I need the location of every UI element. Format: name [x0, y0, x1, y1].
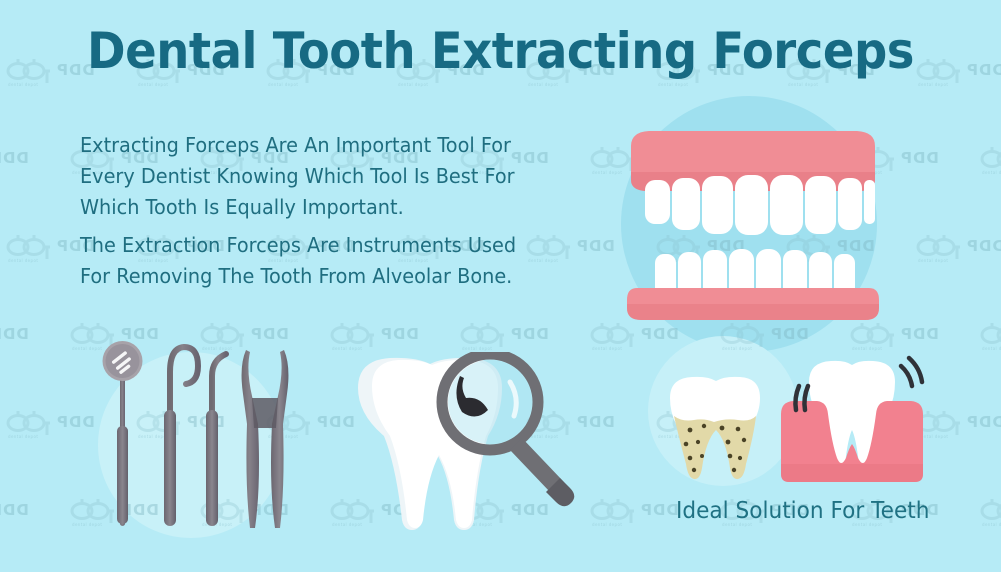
- dentures-illustration: [623, 128, 883, 329]
- decayed-tooth-illustration: [660, 372, 768, 489]
- body-line-5: For Removing The Tooth From Alveolar Bon…: [80, 261, 522, 292]
- watermark-tagline: dental depot: [982, 170, 1001, 175]
- watermark-tile: DDPdental depot: [980, 498, 1001, 532]
- watermark-tile: DDPdental depot: [200, 0, 312, 4]
- watermark-tagline: dental depot: [982, 522, 1001, 527]
- watermark-tile: DDPdental depot: [590, 0, 702, 4]
- watermark-wordmark: DDP: [380, 325, 419, 343]
- watermark-tile: DDPdental depot: [980, 322, 1001, 356]
- watermark-tile: DDPdental depot: [460, 322, 572, 356]
- watermark-logo-icon: [6, 410, 52, 436]
- page-title: Dental Tooth Extracting Forceps: [35, 22, 966, 80]
- watermark-tagline: dental depot: [982, 346, 1001, 351]
- dental-tools-illustration: [100, 336, 290, 541]
- dental-explorer-hook-icon: [164, 347, 198, 526]
- watermark-wordmark: DDP: [966, 61, 1001, 79]
- watermark-tagline: dental depot: [658, 82, 688, 87]
- watermark-tagline: dental depot: [138, 82, 168, 87]
- watermark-tagline: dental depot: [268, 82, 298, 87]
- watermark-tagline: dental depot: [8, 258, 38, 263]
- dental-probe-icon: [206, 354, 226, 526]
- watermark-tagline: dental depot: [918, 82, 948, 87]
- watermark-tagline: dental depot: [332, 346, 362, 351]
- watermark-tagline: dental depot: [528, 82, 558, 87]
- watermark-wordmark: DDP: [900, 149, 939, 167]
- watermark-logo-icon: [6, 234, 52, 260]
- body-line-3: Which Tooth Is Equally Important.: [80, 192, 522, 223]
- watermark-tile: DDPdental depot: [0, 146, 52, 180]
- watermark-tagline: dental depot: [592, 346, 622, 351]
- body-line-1: Extracting Forceps Are An Important Tool…: [80, 130, 522, 161]
- watermark-tile: DDPdental depot: [850, 0, 962, 4]
- watermark-wordmark: DDP: [900, 325, 939, 343]
- watermark-tagline: dental depot: [852, 346, 882, 351]
- dental-mirror-icon: [103, 341, 143, 526]
- watermark-tile: DDPdental depot: [720, 0, 832, 4]
- watermark-tile: DDPdental depot: [980, 0, 1001, 4]
- body-line-4: The Extraction Forceps Are Instruments U…: [80, 230, 522, 261]
- watermark-wordmark: DDP: [576, 237, 615, 255]
- watermark-tile: DDPdental depot: [0, 498, 52, 532]
- watermark-logo-icon: [460, 322, 506, 348]
- watermark-tagline: dental depot: [788, 82, 818, 87]
- watermark-wordmark: DDP: [510, 325, 549, 343]
- watermark-tile: DDPdental depot: [330, 322, 442, 356]
- watermark-tile: DDPdental depot: [330, 0, 442, 4]
- watermark-wordmark: DDP: [966, 413, 1001, 431]
- watermark-tile: DDPdental depot: [916, 410, 1001, 444]
- body-copy: Extracting Forceps Are An Important Tool…: [80, 130, 550, 292]
- healthy-tooth-in-gums-illustration: [775, 352, 925, 489]
- watermark-wordmark: DDP: [0, 149, 29, 167]
- tooth-with-magnifier-illustration: [338, 352, 598, 537]
- body-line-2: Every Dentist Knowing Which Tool Is Best…: [80, 161, 522, 192]
- infographic-poster: DDPdental depotDDPdental depotDDPdental …: [0, 0, 1001, 572]
- watermark-wordmark: DDP: [0, 325, 29, 343]
- watermark-wordmark: DDP: [0, 501, 29, 519]
- watermark-wordmark: DDP: [640, 501, 679, 519]
- watermark-tile: DDPdental depot: [460, 0, 572, 4]
- watermark-tagline: dental depot: [398, 82, 428, 87]
- watermark-wordmark: DDP: [56, 413, 95, 431]
- bottom-caption: Ideal Solution For Teeth: [676, 497, 929, 525]
- watermark-tagline: dental depot: [72, 346, 102, 351]
- watermark-tile: DDPdental depot: [0, 0, 52, 4]
- watermark-tagline: dental depot: [918, 258, 948, 263]
- extraction-forceps-icon: [242, 350, 289, 528]
- watermark-tile: DDPdental depot: [916, 234, 1001, 268]
- watermark-tagline: dental depot: [592, 170, 622, 175]
- watermark-tagline: dental depot: [462, 346, 492, 351]
- watermark-tagline: dental depot: [8, 82, 38, 87]
- watermark-tile: DDPdental depot: [0, 322, 52, 356]
- watermark-tile: DDPdental depot: [70, 0, 182, 4]
- watermark-logo-icon: [980, 498, 1001, 524]
- watermark-wordmark: DDP: [966, 237, 1001, 255]
- watermark-tile: DDPdental depot: [980, 146, 1001, 180]
- watermark-logo-icon: [330, 322, 376, 348]
- watermark-tagline: dental depot: [8, 434, 38, 439]
- watermark-logo-icon: [980, 322, 1001, 348]
- watermark-logo-icon: [916, 234, 962, 260]
- watermark-tagline: dental depot: [72, 522, 102, 527]
- watermark-logo-icon: [980, 146, 1001, 172]
